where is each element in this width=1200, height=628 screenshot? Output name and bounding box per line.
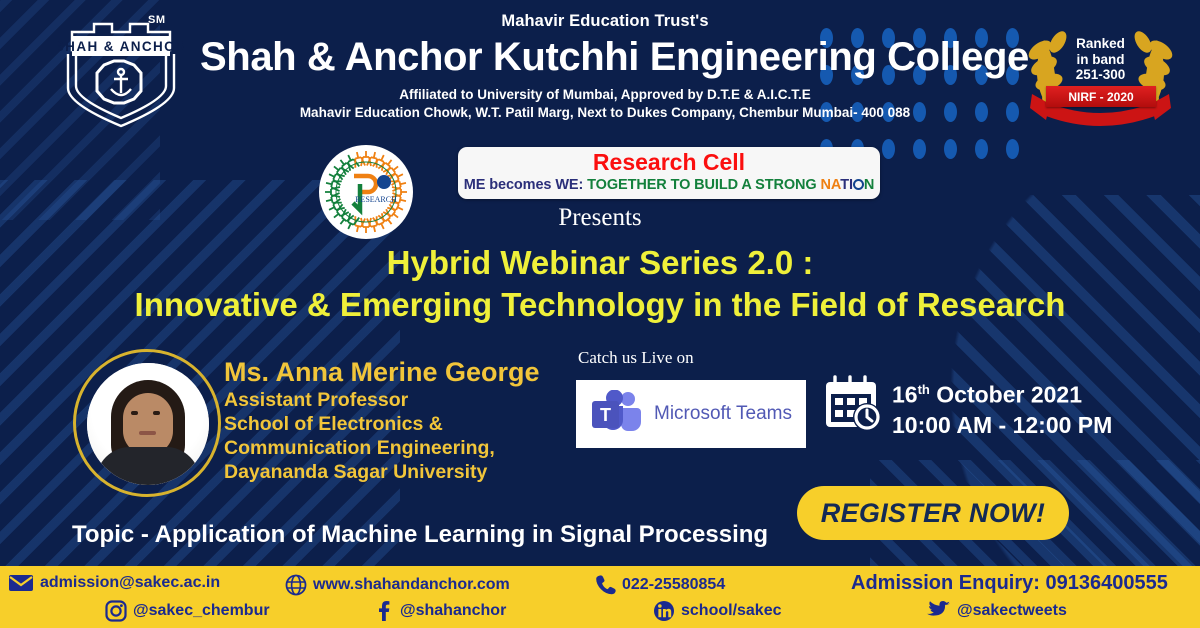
contact-footer: admission@sakec.ac.in @sakec_chembur bbox=[0, 566, 1200, 628]
footer-website-label: www.shahandanchor.com bbox=[313, 576, 510, 594]
email-icon bbox=[8, 574, 34, 592]
trust-name: Mahavir Education Trust's bbox=[200, 12, 1010, 31]
event-title-block: Hybrid Webinar Series 2.0 : Innovative &… bbox=[0, 242, 1200, 327]
speaker-role: Assistant Professor bbox=[224, 388, 564, 412]
webinar-poster: SHAH & ANCHOR SM Mahavir Education Trust… bbox=[0, 0, 1200, 628]
speaker-avatar-ring bbox=[73, 349, 221, 497]
event-date-suffix: th bbox=[918, 382, 930, 397]
nirf-ranking-badge: Ranked in band 251-300 NIRF - 2020 bbox=[1018, 16, 1183, 128]
schedule-block: 16th October 2021 10:00 AM - 12:00 PM bbox=[892, 375, 1112, 440]
catch-us-live-label: Catch us Live on bbox=[578, 348, 694, 368]
svg-text:RESEARCH: RESEARCH bbox=[355, 195, 397, 204]
event-topic: Topic - Application of Machine Learning … bbox=[72, 521, 768, 549]
service-mark-label: SM bbox=[148, 14, 166, 26]
address-text: Mahavir Education Chowk, W.T. Patil Marg… bbox=[200, 105, 1010, 120]
linkedin-icon bbox=[653, 600, 675, 622]
footer-email[interactable]: admission@sakec.ac.in bbox=[8, 574, 220, 592]
footer-linkedin-label: school/sakec bbox=[681, 602, 782, 620]
nirf-line-3: 251-300 bbox=[1018, 67, 1183, 83]
research-cell-title: Research Cell bbox=[458, 147, 880, 176]
speaker-dept-line-2: Communication Engineering, bbox=[224, 436, 564, 460]
speaker-dept-line-1: School of Electronics & bbox=[224, 412, 564, 436]
tagline-nation-ti: TI bbox=[840, 177, 853, 193]
tagline-nation-n: N bbox=[864, 177, 874, 193]
register-now-button[interactable]: REGISTER NOW! bbox=[797, 486, 1069, 540]
tagline-nation-na: NA bbox=[821, 177, 841, 193]
footer-instagram-label: @sakec_chembur bbox=[133, 602, 270, 620]
nirf-rank-text: Ranked in band 251-300 bbox=[1018, 36, 1183, 83]
tagline-green-part: TOGETHER TO BUILD A STRONG bbox=[587, 177, 816, 193]
research-cell-banner: Research Cell ME becomes WE: TOGETHER TO… bbox=[458, 147, 880, 199]
speaker-details: Ms. Anna Merine George Assistant Profess… bbox=[224, 356, 564, 484]
instagram-icon bbox=[105, 600, 127, 622]
event-date-month-year: October 2021 bbox=[930, 382, 1082, 408]
nirf-ribbon-label: NIRF - 2020 bbox=[1046, 86, 1156, 107]
college-name: Shah & Anchor Kutchhi Engineering Colleg… bbox=[200, 35, 1010, 80]
footer-enquiry-label: Admission Enquiry: 09136400555 bbox=[851, 572, 1168, 595]
footer-twitter[interactable]: @sakectweets bbox=[925, 600, 1067, 622]
calendar-clock-icon bbox=[822, 371, 884, 433]
svg-text:T: T bbox=[600, 405, 611, 425]
speaker-name: Ms. Anna Merine George bbox=[224, 356, 564, 388]
event-date-day: 16 bbox=[892, 382, 918, 408]
speaker-photo bbox=[87, 363, 209, 485]
microsoft-teams-label: Microsoft Teams bbox=[654, 403, 792, 425]
facebook-icon bbox=[372, 600, 394, 622]
twitter-icon bbox=[925, 600, 951, 622]
footer-facebook-label: @shahanchor bbox=[400, 602, 506, 620]
event-title-line-2: Innovative & Emerging Technology in the … bbox=[0, 283, 1200, 327]
nirf-line-2: in band bbox=[1018, 52, 1183, 68]
footer-admission-enquiry: Admission Enquiry: 09136400555 bbox=[851, 572, 1168, 595]
nirf-line-1: Ranked bbox=[1018, 36, 1183, 52]
footer-email-label: admission@sakec.ac.in bbox=[40, 574, 220, 592]
globe-icon bbox=[285, 574, 307, 596]
affiliation-text: Affiliated to University of Mumbai, Appr… bbox=[200, 87, 1010, 102]
svg-text:SHAH & ANCHOR: SHAH & ANCHOR bbox=[58, 39, 184, 54]
footer-phone[interactable]: 022-25580854 bbox=[594, 574, 725, 596]
footer-phone-label: 022-25580854 bbox=[622, 576, 725, 594]
microsoft-teams-card[interactable]: T Microsoft Teams bbox=[576, 380, 806, 448]
phone-icon bbox=[594, 574, 616, 596]
footer-twitter-label: @sakectweets bbox=[957, 602, 1067, 620]
college-header-block: Mahavir Education Trust's Shah & Anchor … bbox=[200, 12, 1010, 120]
presents-label: Presents bbox=[0, 204, 1200, 232]
event-title-line-1: Hybrid Webinar Series 2.0 : bbox=[0, 242, 1200, 283]
footer-instagram[interactable]: @sakec_chembur bbox=[105, 600, 270, 622]
event-date: 16th October 2021 bbox=[892, 375, 1112, 410]
microsoft-teams-icon: T bbox=[590, 390, 644, 439]
event-time: 10:00 AM - 12:00 PM bbox=[892, 410, 1112, 440]
footer-website[interactable]: www.shahandanchor.com bbox=[285, 574, 510, 596]
footer-linkedin[interactable]: school/sakec bbox=[653, 600, 782, 622]
tagline-me-part: ME becomes WE: bbox=[464, 177, 583, 193]
college-shield-logo-icon: SHAH & ANCHOR bbox=[58, 12, 184, 130]
speaker-organization: Dayananda Sagar University bbox=[224, 460, 564, 484]
ashoka-chakra-icon bbox=[853, 179, 864, 190]
footer-facebook[interactable]: @shahanchor bbox=[372, 600, 506, 622]
research-cell-tagline: ME becomes WE: TOGETHER TO BUILD A STRON… bbox=[458, 176, 880, 194]
